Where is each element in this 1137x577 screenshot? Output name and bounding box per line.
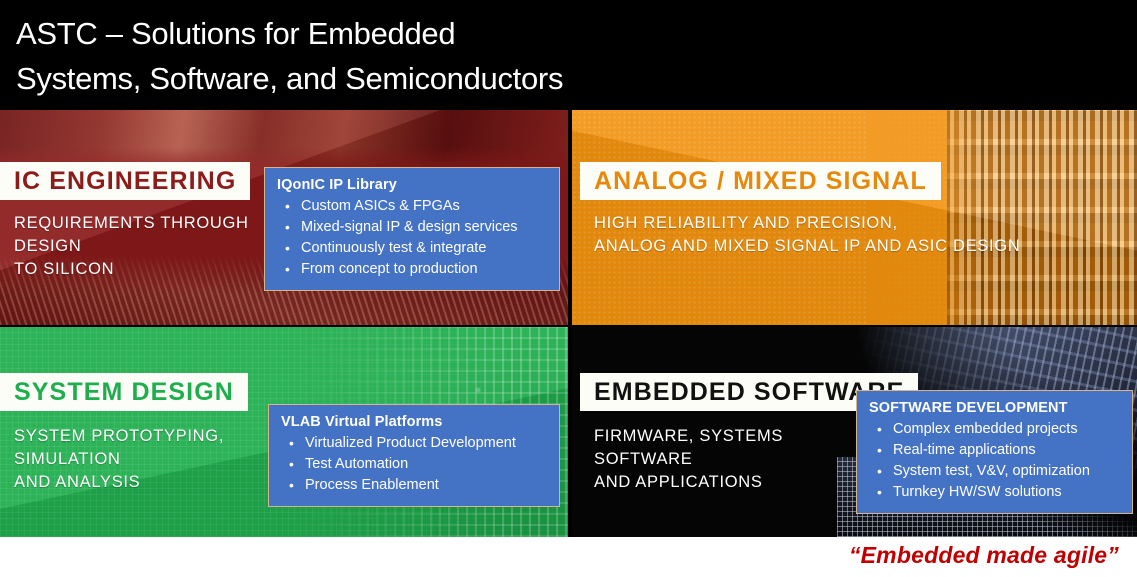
list-item: Process Enablement <box>281 475 547 496</box>
heading-plate-ic-engineering: IC ENGINEERING <box>0 162 250 200</box>
list-item: Custom ASICs & FPGAs <box>277 196 547 217</box>
heading-plate-analog-mixed-signal: ANALOG / MIXED SIGNAL <box>580 162 941 200</box>
list-item: System test, V&V, optimization <box>869 461 1120 482</box>
list-item: From concept to production <box>277 259 547 280</box>
callout-vlab-virtual-platforms: VLAB Virtual Platforms Virtualized Produ… <box>268 404 560 507</box>
callout-bullet-list: Virtualized Product Development Test Aut… <box>281 433 547 496</box>
page-title: ASTC – Solutions for Embedded Systems, S… <box>16 11 1016 101</box>
tagline: “Embedded made agile” <box>849 542 1119 569</box>
slide-header: ASTC – Solutions for Embedded Systems, S… <box>0 0 1137 110</box>
heading-label-analog-mixed-signal: ANALOG / MIXED SIGNAL <box>594 167 927 196</box>
list-item: Complex embedded projects <box>869 419 1120 440</box>
list-item: Mixed-signal IP & design services <box>277 217 547 238</box>
list-item: Test Automation <box>281 454 547 475</box>
subtitle-analog-mixed-signal: HIGH RELIABILITY AND PRECISION, ANALOG A… <box>594 212 1024 258</box>
callout-bullet-list: Custom ASICs & FPGAs Mixed-signal IP & d… <box>277 196 547 280</box>
callout-title: SOFTWARE DEVELOPMENT <box>869 400 1120 416</box>
callout-software-development: SOFTWARE DEVELOPMENT Complex embedded pr… <box>856 390 1133 514</box>
callout-bullet-list: Complex embedded projects Real-time appl… <box>869 419 1120 503</box>
list-item: Continuously test & integrate <box>277 238 547 259</box>
callout-title: IQonIC IP Library <box>277 177 547 193</box>
heading-plate-system-design: SYSTEM DESIGN <box>0 373 248 411</box>
subtitle-embedded-software: FIRMWARE, SYSTEMS SOFTWARE AND APPLICATI… <box>594 425 874 494</box>
list-item: Real-time applications <box>869 440 1120 461</box>
heading-label-system-design: SYSTEM DESIGN <box>14 378 234 407</box>
slide: ASTC – Solutions for Embedded Systems, S… <box>0 0 1137 577</box>
heading-label-ic-engineering: IC ENGINEERING <box>14 167 236 196</box>
list-item: Turnkey HW/SW solutions <box>869 482 1120 503</box>
callout-title: VLAB Virtual Platforms <box>281 414 547 430</box>
subtitle-system-design: SYSTEM PROTOTYPING, SIMULATION AND ANALY… <box>14 425 294 494</box>
callout-iqonic-ip-library: IQonIC IP Library Custom ASICs & FPGAs M… <box>264 167 560 291</box>
list-item: Virtualized Product Development <box>281 433 547 454</box>
subtitle-ic-engineering: REQUIREMENTS THROUGH DESIGN TO SILICON <box>14 212 274 281</box>
